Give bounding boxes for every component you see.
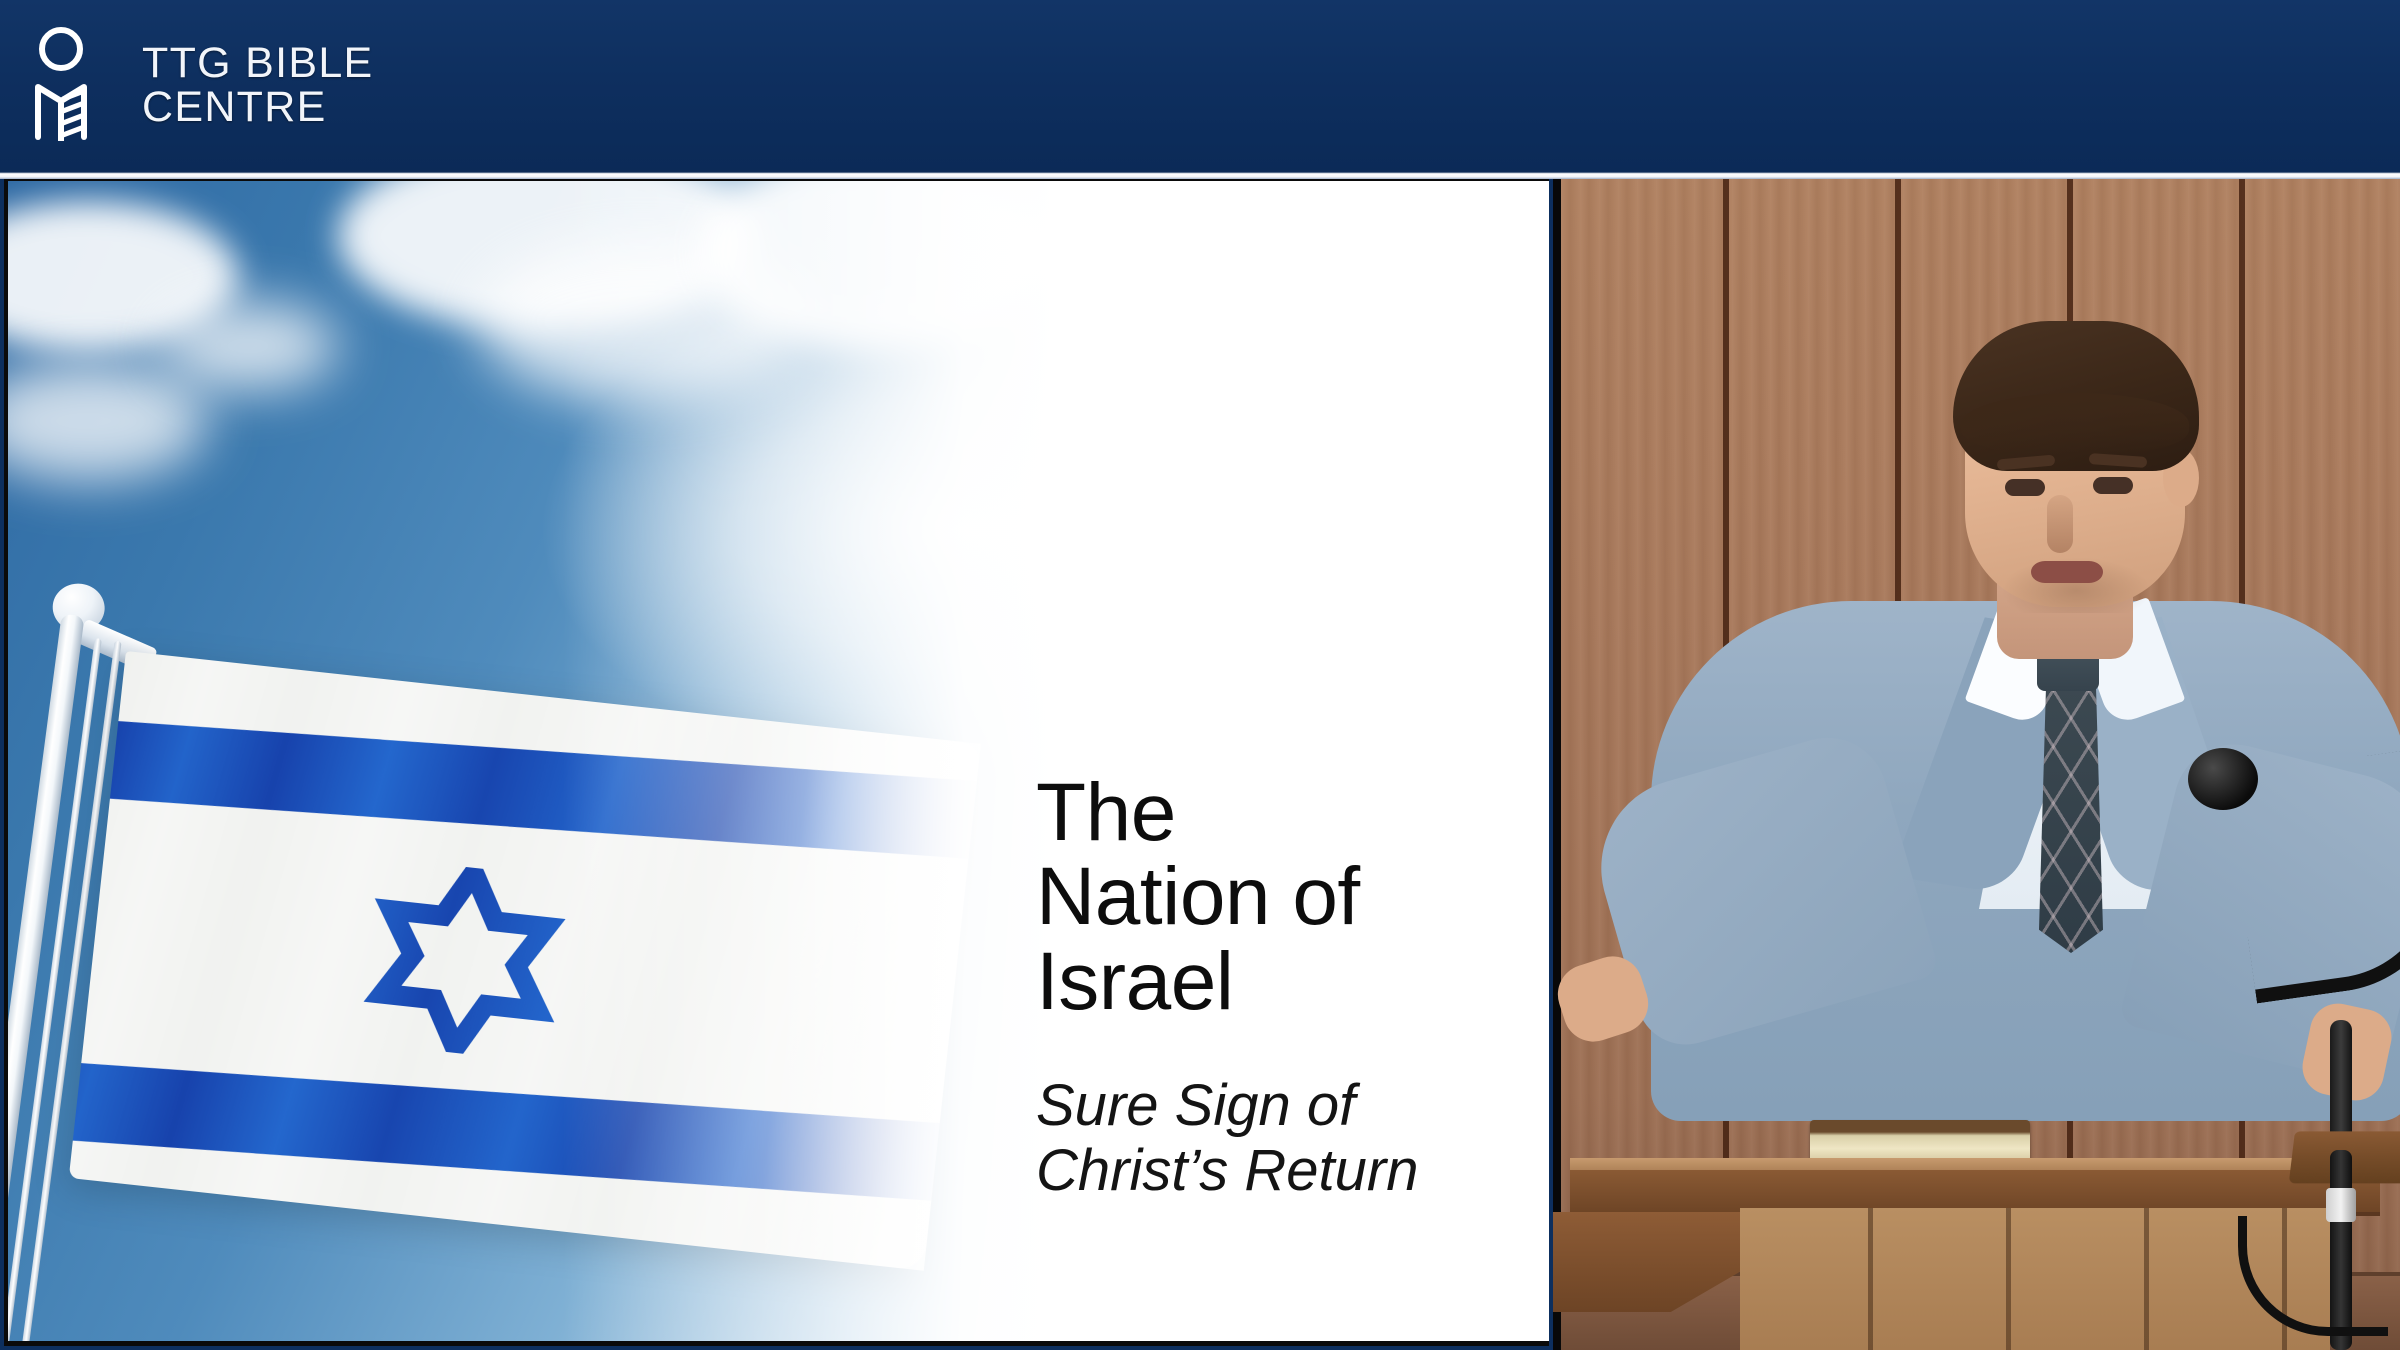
eye-left <box>2005 479 2045 496</box>
microphone-capsule-icon <box>2188 748 2258 810</box>
plaid-necktie <box>2039 663 2103 953</box>
slide-subtitle-line-2: Christ’s Return <box>1036 1139 1506 1204</box>
header-divider <box>0 172 2400 179</box>
slide-title-line-3: Israel <box>1036 940 1506 1024</box>
livestream-viewport: TTG BIBLE CENTRE <box>0 0 2400 1350</box>
presentation-slide-panel[interactable]: The Nation of Israel Sure Sign of Christ… <box>4 179 1549 1346</box>
brand-line-2: CENTRE <box>142 86 374 130</box>
brand-line-1: TTG BIBLE <box>142 42 374 86</box>
brand-header-bar: TTG BIBLE CENTRE <box>0 0 2400 172</box>
slide-title: The Nation of Israel <box>1036 771 1506 1024</box>
slide-text-block: The Nation of Israel Sure Sign of Christ… <box>1036 771 1506 1204</box>
pulpit-top-edge <box>1570 1170 2380 1212</box>
mouth <box>2031 561 2103 583</box>
ttg-person-book-logo-icon <box>30 25 104 147</box>
slide-title-line-2: Nation of <box>1036 855 1506 939</box>
slide-title-line-1: The <box>1036 771 1506 855</box>
hair-fringe <box>1961 393 2189 455</box>
slide-subtitle-line-1: Sure Sign of <box>1036 1074 1506 1139</box>
eye-right <box>2093 477 2133 494</box>
slide-subtitle: Sure Sign of Christ’s Return <box>1036 1074 1506 1204</box>
nose <box>2047 495 2073 553</box>
brand-wordmark: TTG BIBLE CENTRE <box>142 42 374 130</box>
